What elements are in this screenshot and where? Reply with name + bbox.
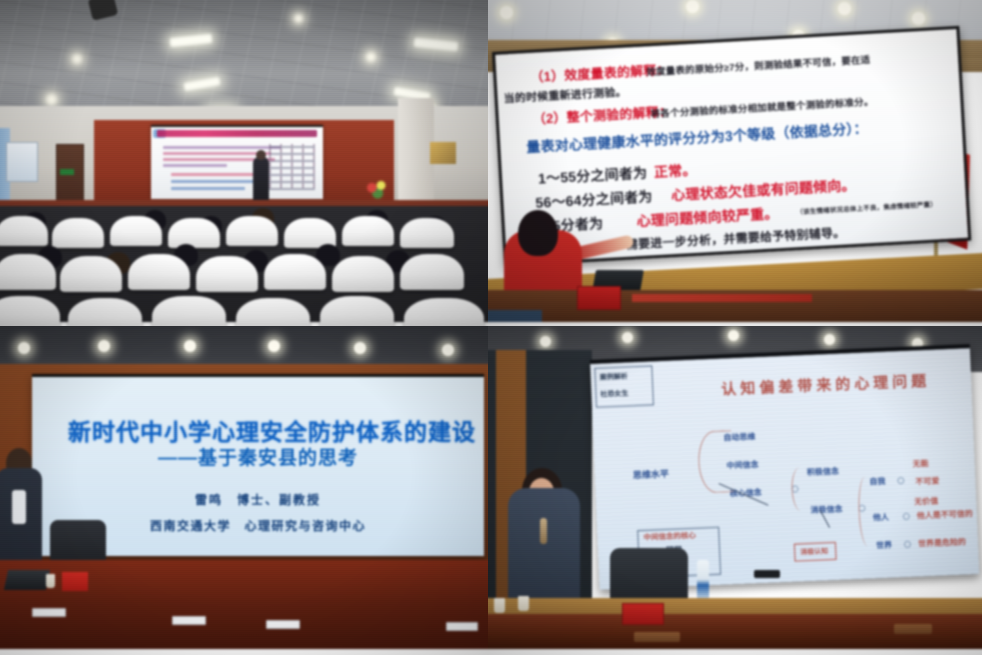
ceiling-light (824, 334, 835, 345)
ceiling-light (184, 340, 196, 352)
photo-panel-top-left (0, 0, 488, 326)
seat-nameplate (446, 622, 478, 631)
slide-title: 认知偏差带来的心理问题 (721, 370, 931, 400)
node-negative-belief: 消极信念 (810, 504, 842, 516)
flower-arrangement (360, 176, 394, 202)
ceiling-light (838, 2, 851, 15)
corner-tag-line2: 社恐女生 (600, 388, 628, 399)
paper-cup (46, 574, 55, 588)
desk-object (488, 310, 542, 322)
side-door (56, 144, 84, 206)
group-label-thinking-level: 思维水平 (633, 467, 670, 481)
range-2-verdict: 心理状态欠佳或有问题倾向。 (671, 175, 856, 205)
ceiling-spot (46, 94, 57, 105)
range-2-text: 56～64分之间者为 (535, 186, 653, 213)
outcome-world-dangerous: 世界是危险的 (918, 536, 966, 549)
microphone (540, 518, 547, 544)
ceiling-light (268, 340, 280, 352)
ceiling-spot (72, 54, 82, 64)
exit-sign (60, 169, 74, 175)
range-1-text: 1～55分之间者为 (538, 163, 648, 189)
range-3-verdict: 心理问题倾向较严重。 (636, 203, 779, 231)
ceiling-light (728, 330, 739, 341)
ceiling-spot (294, 14, 303, 23)
audience-area (0, 206, 488, 322)
slide-line1-text: 效度量表的原始分≥7分，则测验结果不可信，要在适 (646, 52, 871, 78)
outcome-incapable: 无能 (912, 458, 928, 470)
presenter-head (518, 210, 558, 256)
laptop (4, 570, 50, 590)
outcome-unlovable: 不可爱 (915, 475, 939, 487)
slide-title: 新时代中小学心理安全防护体系的建设 (42, 413, 488, 447)
projection-screen (151, 125, 323, 199)
ceiling-light (354, 342, 366, 354)
node-positive-belief: 积极信念 (807, 466, 839, 478)
photo-panel-bottom-right: 案例解析 社恐女生 认知偏差带来的心理问题 思维水平 自动思维 中间信念 核心信… (488, 326, 982, 655)
stage-presenter (253, 157, 269, 205)
paper-cup (494, 598, 505, 613)
ceiling-spot (366, 52, 376, 62)
slide-note-small: （该生情绪状况总体上不良，焦虑情绪较严重） (796, 198, 937, 216)
node-others: 他人 (873, 512, 889, 524)
range-1-verdict: 正常。 (653, 160, 697, 182)
node-core-belief: 核心信念 (729, 487, 761, 499)
ceiling-light (912, 12, 925, 25)
water-bottle (697, 560, 709, 602)
ceiling-light (18, 342, 30, 354)
paper-cup (518, 596, 529, 611)
banner-strip (632, 294, 812, 302)
slide-figure (269, 144, 315, 190)
photo-collage: （1）效度量表的解释： 效度量表的原始分≥7分，则测验结果不可信，要在适 当的时… (0, 0, 982, 655)
corner-tag-line1: 案例解析 (600, 371, 628, 382)
ceiling-light (540, 336, 551, 347)
pointer-box-label: 消极认知 (800, 546, 828, 557)
ceiling-light (622, 332, 633, 343)
wall-poster (6, 142, 38, 182)
outcome-others-untrustworthy: 他人是不可信的 (917, 508, 973, 521)
photo-panel-bottom-left: 新时代中小学心理安全防护体系的建设 ——基于秦安县的思考 雷鸣 博士、副教授 西… (0, 326, 488, 655)
slide-title-bar (157, 130, 317, 137)
ceiling-light (98, 340, 110, 352)
nameplate (622, 603, 664, 625)
desk-plaque (894, 624, 932, 634)
wall-art (430, 142, 456, 164)
desk-plaque (634, 632, 680, 642)
ceiling-light (442, 344, 454, 356)
seat-nameplate (172, 616, 206, 625)
ceiling-light (686, 0, 699, 13)
lower-box-title: 中间信念的核心 (643, 530, 696, 543)
seat-nameplate (266, 620, 300, 629)
slide-presenter: 雷鸣 博士、副教授 (32, 491, 484, 508)
slide-line1-cont: 当的时候重新进行测验。 (503, 84, 627, 107)
nameplate (577, 286, 621, 310)
slide-line2-text: 将各个分测验的标准分相加就是整个测验的标准分。 (650, 94, 874, 120)
desk-device (754, 570, 780, 578)
node-world: 世界 (876, 540, 892, 552)
presenter-shirt (12, 490, 26, 524)
slide-subtitle: ——基于秦安县的思考 (32, 443, 484, 470)
photo-panel-top-right: （1）效度量表的解释： 效度量表的原始分≥7分，则测验结果不可信，要在适 当的时… (488, 0, 982, 326)
ceiling-light (500, 6, 513, 19)
outcome-worthless: 无价值 (914, 496, 938, 508)
red-nameplate (62, 572, 88, 591)
seat-nameplate (32, 608, 66, 617)
